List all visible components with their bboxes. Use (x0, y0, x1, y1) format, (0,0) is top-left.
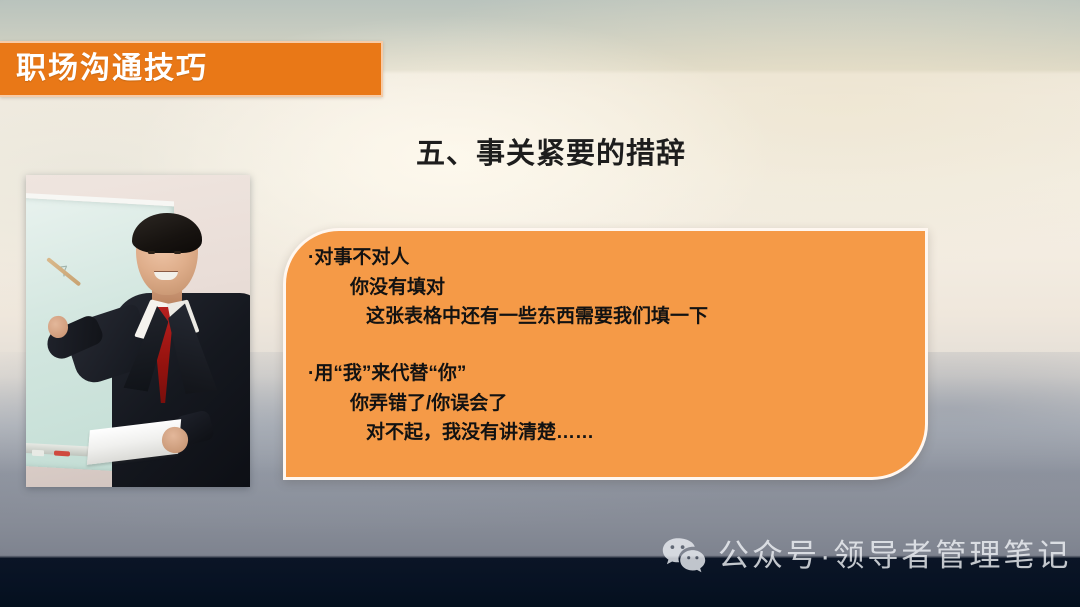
title-banner: 职场沟通技巧 (0, 41, 383, 97)
card-line: 你弄错了/你误会了 (308, 389, 909, 419)
banner-title-text: 职场沟通技巧 (16, 54, 208, 84)
whiteboard-marker (54, 451, 70, 457)
card-line: ·对事不对人 (308, 243, 909, 273)
card-line: ·用“我”来代替“你” (308, 359, 909, 389)
content-card: ·对事不对人 你没有填对 这张表格中还有一些东西需要我们填一下 ·用“我”来代替… (283, 228, 928, 480)
presenter-eye-right (174, 251, 181, 254)
bullet-block-2: ·用“我”来代替“你” 你弄错了/你误会了 对不起，我没有讲清楚…… (308, 359, 909, 448)
content-card-body: ·对事不对人 你没有填对 这张表格中还有一些东西需要我们填一下 ·用“我”来代替… (308, 243, 909, 448)
block-spacer (308, 332, 909, 359)
slide-canvas: 职场沟通技巧 五、事关紧要的措辞 7 ·对事不对人 (0, 0, 1080, 607)
bullet-block-1: ·对事不对人 你没有填对 这张表格中还有一些东西需要我们填一下 (308, 243, 909, 332)
card-line: 对不起，我没有讲清楚…… (308, 418, 909, 448)
card-line: 你没有填对 (308, 273, 909, 303)
presenter-photo: 7 (26, 175, 250, 487)
section-heading: 五、事关紧要的措辞 (416, 137, 686, 172)
whiteboard-eraser (32, 450, 44, 457)
card-line: 这张表格中还有一些东西需要我们填一下 (308, 302, 909, 332)
presenter-eye-left (148, 251, 155, 254)
